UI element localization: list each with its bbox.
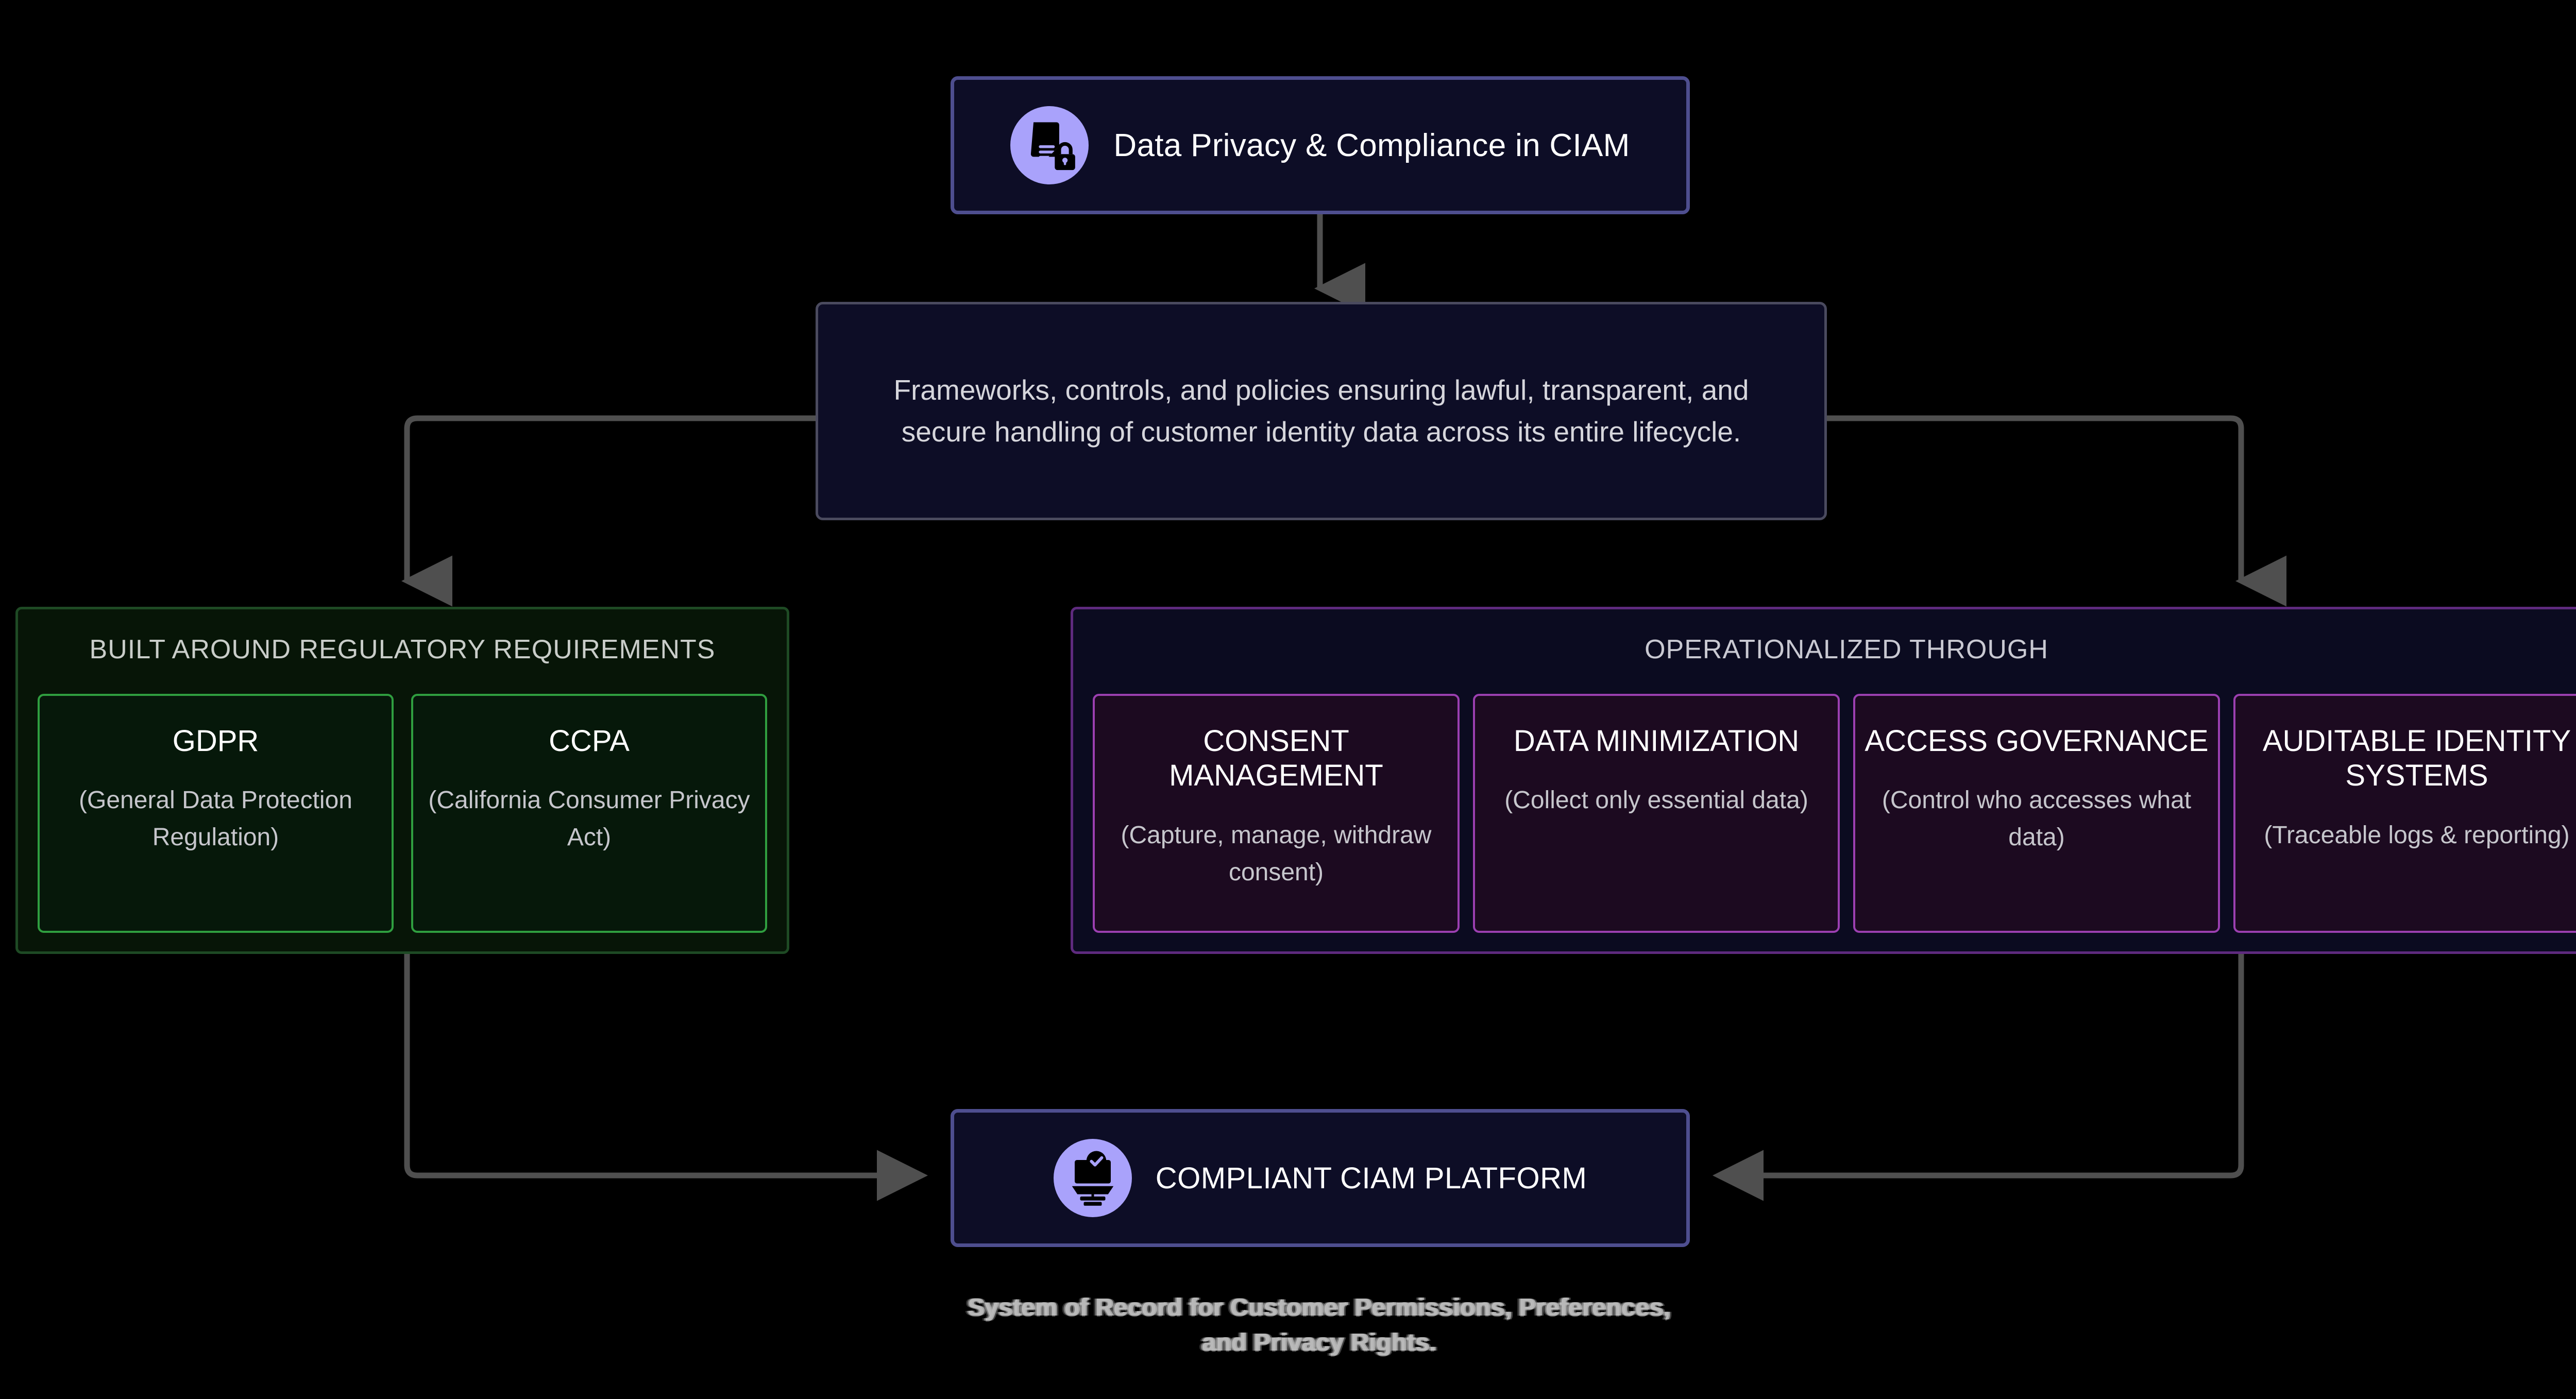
card-subtitle: (Capture, manage, withdraw consent) bbox=[1104, 817, 1448, 891]
operational-group-title: OPERATIONALIZED THROUGH bbox=[1073, 634, 2576, 665]
card-title: AUDITABLE IDENTITY SYSTEMS bbox=[2245, 724, 2576, 793]
operational-card-auditable-identity-systems[interactable]: AUDITABLE IDENTITY SYSTEMS (Traceable lo… bbox=[2233, 694, 2576, 933]
description-node: Frameworks, controls, and policies ensur… bbox=[816, 302, 1827, 520]
edge-regulatory-to-platform bbox=[407, 954, 922, 1175]
card-title: DATA MINIMIZATION bbox=[1514, 724, 1799, 758]
edge-operational-to-platform bbox=[1718, 954, 2241, 1175]
page-title: Data Privacy & Compliance in CIAM bbox=[1113, 127, 1630, 164]
card-subtitle: (General Data Protection Regulation) bbox=[52, 782, 379, 856]
operational-group: OPERATIONALIZED THROUGH CONSENT MANAGEME… bbox=[1071, 607, 2576, 954]
platform-node[interactable]: COMPLIANT CIAM PLATFORM bbox=[951, 1109, 1690, 1247]
verified-monitor-icon bbox=[1054, 1139, 1132, 1217]
operational-card-access-governance[interactable]: ACCESS GOVERNANCE (Control who accesses … bbox=[1853, 694, 2220, 933]
card-subtitle: (Collect only essential data) bbox=[1504, 782, 1808, 819]
card-title: GDPR bbox=[173, 724, 259, 758]
operational-card-list: CONSENT MANAGEMENT (Capture, manage, wit… bbox=[1093, 694, 2576, 933]
regulatory-group-title: BUILT AROUND REGULATORY REQUIREMENTS bbox=[18, 634, 787, 665]
operational-card-data-minimization[interactable]: DATA MINIMIZATION (Collect only essentia… bbox=[1473, 694, 1840, 933]
operational-card-consent-management[interactable]: CONSENT MANAGEMENT (Capture, manage, wit… bbox=[1093, 694, 1460, 933]
card-title: CONSENT MANAGEMENT bbox=[1104, 724, 1448, 793]
footer-line-1: System of Record for Customer Permission… bbox=[762, 1290, 1875, 1325]
regulatory-card-gdpr[interactable]: GDPR (General Data Protection Regulation… bbox=[38, 694, 394, 933]
card-title: ACCESS GOVERNANCE bbox=[1865, 724, 2208, 758]
card-subtitle: (Control who accesses what data) bbox=[1865, 782, 2209, 856]
regulatory-card-list: GDPR (General Data Protection Regulation… bbox=[38, 694, 767, 933]
footer-line-2: and Privacy Rights. bbox=[762, 1325, 1875, 1360]
card-subtitle: (California Consumer Privacy Act) bbox=[426, 782, 753, 856]
edge-description-to-regulatory bbox=[407, 418, 816, 581]
card-title: CCPA bbox=[549, 724, 630, 758]
edge-description-to-operational bbox=[1827, 418, 2241, 581]
description-text: Frameworks, controls, and policies ensur… bbox=[854, 369, 1788, 453]
platform-title: COMPLIANT CIAM PLATFORM bbox=[1156, 1161, 1587, 1196]
card-subtitle: (Traceable logs & reporting) bbox=[2264, 817, 2569, 854]
footer-caption: System of Record for Customer Permission… bbox=[762, 1290, 1875, 1360]
document-lock-icon bbox=[1010, 106, 1089, 184]
diagram-canvas: Data Privacy & Compliance in CIAM Framew… bbox=[0, 0, 2576, 1399]
header-node[interactable]: Data Privacy & Compliance in CIAM bbox=[951, 76, 1690, 214]
regulatory-group: BUILT AROUND REGULATORY REQUIREMENTS GDP… bbox=[15, 607, 789, 954]
regulatory-card-ccpa[interactable]: CCPA (California Consumer Privacy Act) bbox=[411, 694, 767, 933]
